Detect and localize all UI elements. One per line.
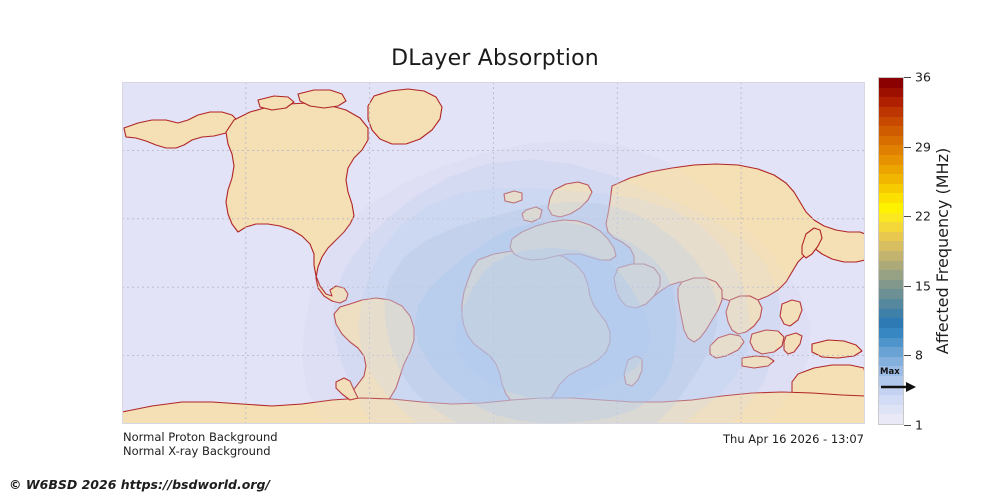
- colorbar-cell: [879, 145, 903, 155]
- colorbar-cell: [879, 155, 903, 165]
- colorbar-cell: [879, 386, 903, 396]
- colorbar-cell: [879, 107, 903, 117]
- colorbar-cell: [879, 261, 903, 271]
- colorbar-cell: [879, 318, 903, 328]
- colorbar-cell: [879, 405, 903, 415]
- colorbar-cell: [879, 203, 903, 213]
- colorbar-cell: [879, 232, 903, 242]
- colorbar-tick-label: 15: [915, 278, 931, 293]
- colorbar-cell: [879, 309, 903, 319]
- world-map: [122, 82, 865, 424]
- colorbar-cell: [879, 289, 903, 299]
- colorbar-cell: [879, 414, 903, 424]
- colorbar-gradient: [878, 77, 904, 425]
- colorbar-cell: [879, 165, 903, 175]
- colorbar-cell: [879, 395, 903, 405]
- colorbar-tick-label: 36: [915, 70, 931, 85]
- colorbar-cell: [879, 184, 903, 194]
- colorbar-tick-label: 29: [915, 139, 931, 154]
- colorbar-cell: [879, 174, 903, 184]
- colorbar-cell: [879, 338, 903, 348]
- colorbar-cell: [879, 299, 903, 309]
- colorbar-cell: [879, 136, 903, 146]
- note-xray-background: Normal X-ray Background: [123, 444, 271, 458]
- colorbar-tick-mark: [904, 425, 911, 426]
- colorbar-cell: [879, 126, 903, 136]
- colorbar-tick-mark: [904, 77, 911, 78]
- colorbar-tick-mark: [904, 147, 911, 148]
- colorbar-cell: [879, 241, 903, 251]
- colorbar-cell: [879, 280, 903, 290]
- note-proton-background: Normal Proton Background: [123, 430, 278, 444]
- colorbar-cell: [879, 213, 903, 223]
- colorbar-axis-label: Affected Frequency (MHz): [930, 77, 956, 425]
- colorbar-cell: [879, 117, 903, 127]
- colorbar-cell: [879, 347, 903, 357]
- colorbar-tick-label: 22: [915, 209, 931, 224]
- colorbar-cell: [879, 88, 903, 98]
- colorbar-tick-label: 1: [915, 418, 923, 433]
- colorbar-tick-mark: [904, 286, 911, 287]
- colorbar-cell: [879, 193, 903, 203]
- colorbar-tick-mark: [904, 355, 911, 356]
- colorbar-cell: [879, 366, 903, 376]
- colorbar-cell: [879, 357, 903, 367]
- colorbar-cell: [879, 222, 903, 232]
- copyright-credit: © W6BSD 2026 https://bsdworld.org/: [9, 477, 270, 492]
- colorbar-cell: [879, 78, 903, 88]
- colorbar-cell: [879, 97, 903, 107]
- colorbar-tick-mark: [904, 216, 911, 217]
- timestamp-label: Thu Apr 16 2026 - 13:07: [723, 432, 864, 446]
- colorbar-cell: [879, 270, 903, 280]
- colorbar[interactable]: 1815222936: [878, 77, 904, 425]
- world-map-panel[interactable]: [122, 82, 865, 424]
- colorbar-cell: [879, 376, 903, 386]
- colorbar-cell: [879, 328, 903, 338]
- colorbar-tick-label: 8: [915, 348, 923, 363]
- colorbar-cell: [879, 251, 903, 261]
- page-title: DLayer Absorption: [0, 46, 990, 71]
